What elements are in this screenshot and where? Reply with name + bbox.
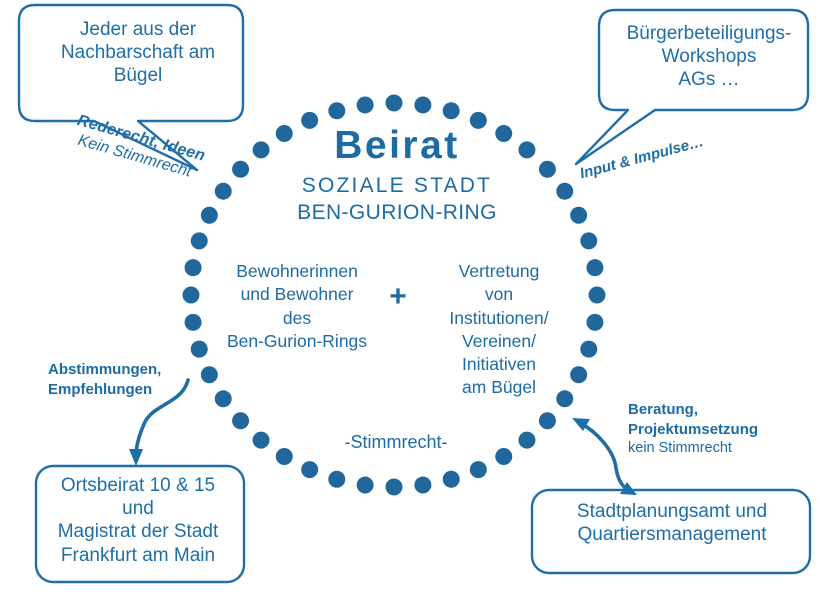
bubble-line: AGs … — [608, 68, 810, 91]
center-footer: -Stimmrecht- — [296, 432, 496, 454]
label-line: Empfehlungen — [48, 380, 228, 400]
bubble-line: Bürgerbeteiligungs- — [608, 22, 810, 45]
ring-dot — [386, 95, 403, 112]
ring-dot — [328, 471, 345, 488]
center-right-line: Vertretung — [420, 260, 578, 283]
diagram-canvas: Jeder aus der Nachbarschaft am Bügel Bür… — [0, 0, 820, 600]
box-line: Frankfurt am Main — [38, 544, 238, 567]
label-beratung: Beratung, Projektumsetzung kein Stimmrec… — [628, 400, 818, 458]
label-line: Beratung, — [628, 400, 818, 420]
page-title: Beirat — [247, 126, 547, 167]
ring-dot — [589, 287, 606, 304]
center-title-block: Beirat SOZIALE STADT BEN-GURION-RING — [247, 126, 547, 225]
center-left-line: Ben-Gurion-Rings — [218, 330, 376, 353]
ring-dot — [201, 207, 218, 224]
ring-dot — [539, 412, 556, 429]
bubble-text-top-right: Bürgerbeteiligungs- Workshops AGs … — [608, 22, 810, 92]
center-right-line: Vereinen/ — [420, 330, 578, 353]
ring-dot — [580, 232, 597, 249]
box-text-bottom-right: Stadtplanungsamt und Quartiersmanagement — [536, 500, 808, 546]
center-right-line: Institutionen/ — [420, 307, 578, 330]
box-line: Quartiersmanagement — [536, 523, 808, 546]
plus-sign: + — [376, 260, 420, 312]
box-line: Ortsbeirat 10 & 15 — [38, 474, 238, 497]
center-right-line: Initiativen — [420, 353, 578, 376]
label-line-light: kein Stimmrecht — [628, 439, 818, 458]
ring-dot — [185, 259, 202, 276]
ring-dot — [443, 102, 460, 119]
center-left-line: Bewohnerinnen — [218, 260, 376, 283]
ring-dot — [185, 314, 202, 331]
center-columns: Bewohnerinnen und Bewohner des Ben-Gurio… — [218, 260, 578, 400]
ring-dot — [215, 183, 232, 200]
ring-dot — [556, 183, 573, 200]
center-left-line: des — [218, 307, 376, 330]
ring-dot — [357, 477, 374, 494]
ring-dot — [495, 448, 512, 465]
bubble-line: Bügel — [34, 64, 242, 87]
ring-dot — [414, 477, 431, 494]
box-line: und — [38, 497, 238, 520]
ring-dot — [470, 461, 487, 478]
bubble-line: Workshops — [608, 45, 810, 68]
center-right-line: von — [420, 283, 578, 306]
center-left-line: und Bewohner — [218, 283, 376, 306]
ring-dot — [570, 207, 587, 224]
center-column-left: Bewohnerinnen und Bewohner des Ben-Gurio… — [218, 260, 376, 353]
ring-dot — [414, 96, 431, 113]
ring-dot — [580, 341, 597, 358]
ring-dot — [443, 471, 460, 488]
ring-dot — [253, 432, 270, 449]
center-right-line: am Bügel — [420, 376, 578, 399]
ring-dot — [357, 96, 374, 113]
ring-dot — [586, 314, 603, 331]
bubble-text-top-left: Jeder aus der Nachbarschaft am Bügel — [34, 18, 242, 88]
center-subtitle-2: BEN-GURION-RING — [247, 201, 547, 225]
box-line: Stadtplanungsamt und — [536, 500, 808, 523]
ring-dot — [518, 432, 535, 449]
bubble-line: Jeder aus der — [34, 18, 242, 41]
label-line: Projektumsetzung — [628, 420, 818, 440]
ring-dot — [328, 102, 345, 119]
center-subtitle: SOZIALE STADT — [247, 174, 547, 198]
ring-dot — [386, 479, 403, 496]
ring-dot — [191, 341, 208, 358]
ring-dot — [301, 461, 318, 478]
center-column-right: Vertretung von Institutionen/ Vereinen/ … — [420, 260, 578, 400]
ring-dot — [276, 448, 293, 465]
bubble-line: Nachbarschaft am — [34, 41, 242, 64]
ring-dot — [586, 259, 603, 276]
label-line: Abstimmungen, — [48, 360, 228, 380]
label-abstimmungen: Abstimmungen, Empfehlungen — [48, 360, 228, 401]
ring-dot — [232, 412, 249, 429]
box-line: Magistrat der Stadt — [38, 520, 238, 543]
ring-dot — [183, 287, 200, 304]
box-text-bottom-left: Ortsbeirat 10 & 15 und Magistrat der Sta… — [38, 474, 238, 567]
ring-dot — [191, 232, 208, 249]
